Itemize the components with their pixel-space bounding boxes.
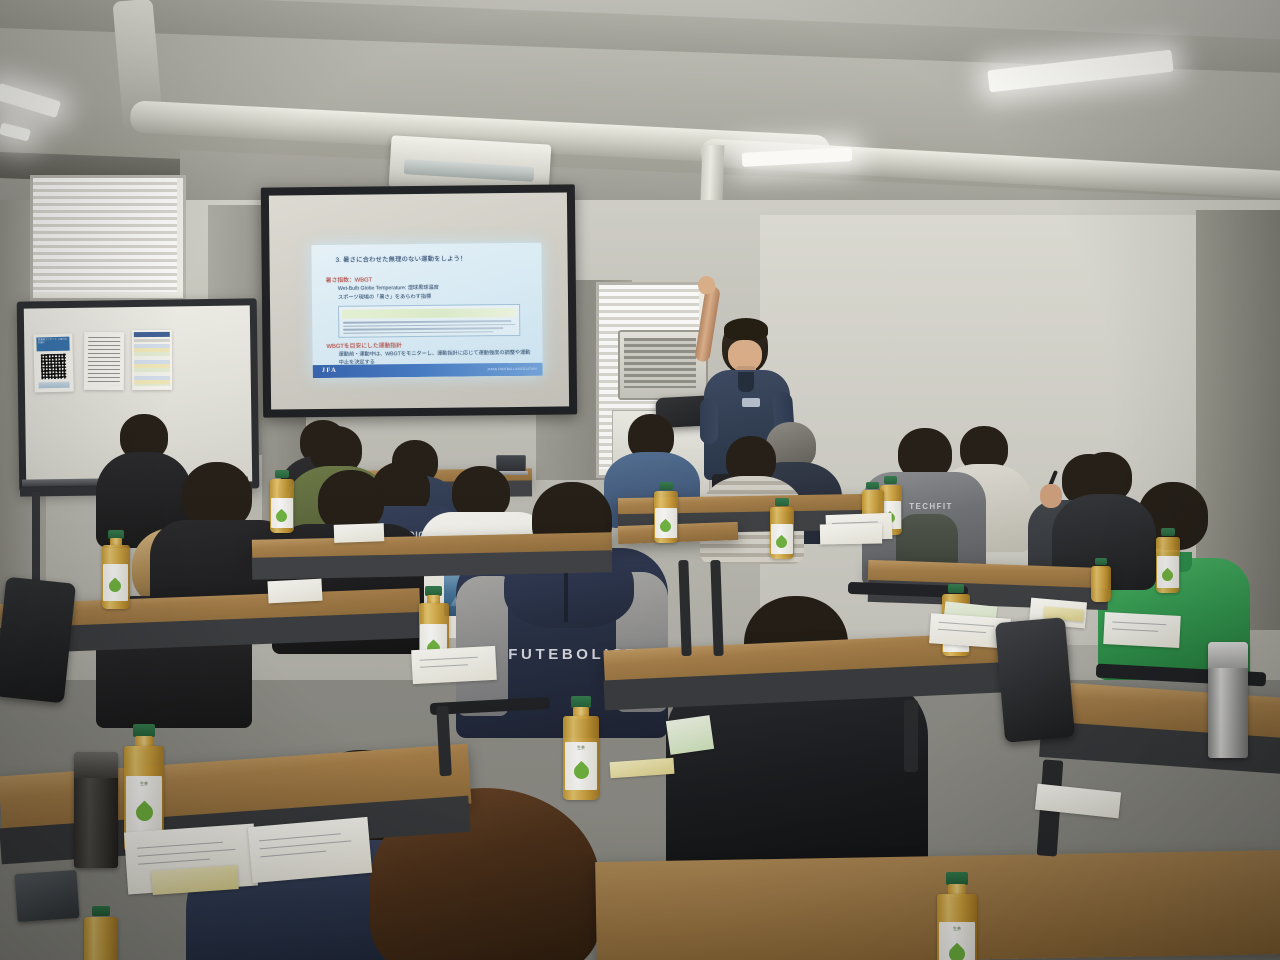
handout-line <box>1112 621 1166 625</box>
slide-bullet-1-sub-2: スポーツ現場の「暑さ」をあらわす指標 <box>338 293 431 301</box>
presentation-slide: 3. 暑さに合わせた無理のない運動をしよう！ 暑さ指数：WBGT Wet-Bul… <box>311 243 542 378</box>
presenter-collar <box>738 372 754 392</box>
bottle-cap <box>775 498 789 506</box>
handout-line <box>938 629 986 633</box>
wall-vent-grill <box>624 338 696 388</box>
attendee-backpack-strap-panel <box>896 514 958 566</box>
table-handout-rows <box>134 344 170 386</box>
presenter-hair <box>724 318 768 340</box>
bottle-cap <box>866 482 879 489</box>
bottle-leaf-icon <box>274 509 290 525</box>
slide-bullet-1-sub-1: Wet-Bulb Globe Temperature: 湿球黒球温度 <box>338 284 439 292</box>
thermos-cap <box>1208 642 1248 668</box>
slide-note-line <box>343 331 493 334</box>
handout-line <box>420 657 478 661</box>
bottle-leaf-icon <box>658 519 674 535</box>
chair-leg-foreground <box>436 706 452 777</box>
bottle-cap <box>948 584 964 593</box>
slide-bullet-2: WBGTを目安にした運動指針 <box>326 340 401 350</box>
qr-poster-footer <box>39 382 70 389</box>
qr-code-icon <box>41 354 67 380</box>
handout-desk-centre <box>248 817 372 883</box>
bottle-label: 生茶 <box>939 922 975 960</box>
bottle-label: 生茶 <box>126 776 162 838</box>
handout-line <box>260 851 326 858</box>
handout-futebolista-desk <box>411 646 497 684</box>
bottle-label-text: 生茶 <box>126 781 162 787</box>
bottle-label-text: 生茶 <box>565 745 597 751</box>
bottle-leaf-icon <box>107 578 124 595</box>
bottle-leaf-icon <box>774 535 790 551</box>
whiteboard-table-handout <box>132 330 172 390</box>
handout-line <box>420 664 468 668</box>
backpack-floor-right <box>995 617 1075 743</box>
whiteboard-qr-poster: 受講者アンケート ご協力のお願い <box>33 333 74 392</box>
bottle-label <box>655 508 677 538</box>
qr-poster-heading: 受講者アンケート ご協力のお願い <box>38 338 68 345</box>
thermos-black-front-left <box>74 752 118 868</box>
handout-mid-left <box>267 579 322 604</box>
bottle-label <box>1157 556 1179 588</box>
qr-poster-heading-band: 受講者アンケート ご協力のお願い <box>36 337 69 352</box>
handout-far-right <box>1103 612 1181 648</box>
slide-bullet-1: 暑さ指数：WBGT <box>326 274 372 283</box>
slide-reference-box <box>338 304 520 338</box>
handout-line <box>138 849 236 857</box>
classroom-photo-scene: 3. 暑さに合わせた無理のない運動をしよう！ 暑さ指数：WBGT Wet-Bul… <box>0 0 1280 960</box>
wallet <box>14 870 79 922</box>
bottle-leaf-icon <box>946 943 969 960</box>
bottle-body <box>1091 566 1111 602</box>
whiteboard-text-handout <box>84 332 125 390</box>
text-handout-lines <box>88 337 120 385</box>
card-green-desk <box>666 715 714 755</box>
bottle-cap <box>275 470 289 478</box>
bottle-label <box>103 564 128 601</box>
bottle-leaf-icon <box>132 800 156 824</box>
bottle-label: 生茶 <box>565 742 597 790</box>
bottle-cap <box>1095 558 1107 565</box>
presenter-shoulder-sleeve <box>700 398 718 444</box>
bottle-body <box>84 917 118 960</box>
bottle-leaf-icon <box>571 761 592 782</box>
handout-line <box>259 833 341 841</box>
handout-line <box>260 840 352 849</box>
bottle-cap <box>92 906 110 916</box>
blinds-upper-left <box>33 178 177 292</box>
bottle-leaf-icon <box>1160 568 1176 584</box>
projection-screen-surface: 3. 暑さに合わせた無理のない運動をしよう！ 暑さ指数：WBGT Wet-Bul… <box>269 192 569 409</box>
techfit-garment-text: TECHFIT <box>902 502 960 511</box>
thermos-steel-right <box>1208 642 1248 758</box>
handout-line <box>138 859 210 865</box>
thermos-cap <box>74 752 118 778</box>
handout-line <box>938 622 994 627</box>
bottle-label-text: 生茶 <box>939 926 975 932</box>
chair-leg-mid <box>904 700 918 772</box>
bottle-label <box>771 524 793 554</box>
slide-reference-highlight <box>342 308 516 319</box>
bottle-label <box>271 498 293 528</box>
handout-line <box>137 842 223 849</box>
bottle-cap <box>659 482 673 490</box>
bottle-cap <box>1161 528 1175 536</box>
handout-back-right <box>820 523 882 544</box>
handout-line <box>1112 628 1158 631</box>
presenter-chest-logo-icon <box>742 398 760 407</box>
projection-screen: 3. 暑さに合わせた無理のない運動をしよう！ 暑さ指数：WBGT Wet-Bul… <box>261 184 577 417</box>
table-handout-heading <box>134 332 170 337</box>
bottle-cap <box>884 476 897 484</box>
slide-footer-right: JAPAN FOOTBALL ASSOCIATION <box>487 367 537 372</box>
slide-title: 3. 暑さに合わせた無理のない運動をしよう！ <box>336 253 536 264</box>
backpack-floor-left <box>0 577 76 704</box>
handout-back-left <box>334 523 385 543</box>
attendee-hand <box>1040 484 1062 508</box>
table-handout-subheading <box>134 339 170 342</box>
jfa-logo: JFA <box>322 367 338 374</box>
slide-footer: JFA JAPAN FOOTBALL ASSOCIATION <box>313 363 543 378</box>
card-yellow-desk <box>610 758 675 778</box>
